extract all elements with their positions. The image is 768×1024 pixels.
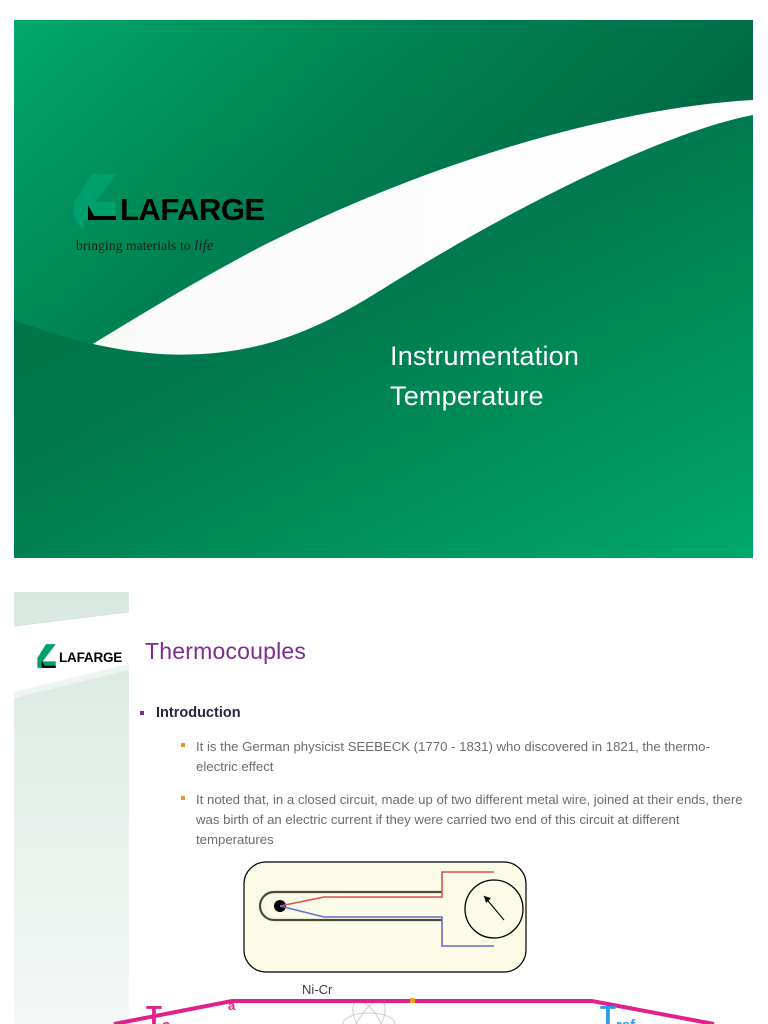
lafarge-logo: LAFARGE bringing materials to life [74, 172, 304, 282]
title-slide: LAFARGE bringing materials to life Instr… [14, 20, 753, 558]
slide-body: Introduction It is the German physicist … [138, 705, 748, 863]
thermocouple-circuit-svg [242, 860, 542, 980]
bullet-square-icon [140, 711, 144, 715]
lafarge-wordmark-small: LAFARGE [59, 650, 122, 665]
bullet-level2-text: It noted that, in a closed circuit, made… [196, 792, 743, 847]
label-a: a [228, 998, 235, 1013]
slide-title-line1: Instrumentation [390, 336, 579, 376]
bullet-square-icon [181, 796, 185, 800]
bullet-level2-text: It is the German physicist SEEBECK (1770… [196, 739, 710, 774]
slide-sidebar: LAFARGE [14, 592, 129, 1024]
lafarge-logo-mark-small-icon [33, 643, 59, 669]
lafarge-wordmark: LAFARGE [120, 192, 265, 228]
bullet-level1-introduction: Introduction [138, 705, 748, 721]
content-slide: LAFARGE Thermocouples Introduction It is… [14, 592, 753, 1024]
seebeck-loop-svg [14, 990, 753, 1024]
slide-page: LAFARGE bringing materials to life Instr… [0, 0, 768, 1024]
bullet-square-icon [181, 743, 185, 747]
lafarge-tagline: bringing materials to life [76, 238, 214, 255]
label-t-ref: Tref [600, 1000, 635, 1024]
bullet-level2-closed-circuit: It noted that, in a closed circuit, made… [180, 790, 748, 850]
slide-title: Instrumentation Temperature [390, 336, 579, 416]
slide-title-line2: Temperature [390, 376, 579, 416]
thermocouple-circuit-diagram [242, 860, 542, 980]
bullet-level2-seebeck: It is the German physicist SEEBECK (1770… [180, 737, 748, 777]
bullet-level1-text: Introduction [156, 705, 241, 721]
lafarge-logo-small: LAFARGE [33, 643, 125, 673]
page-title: Thermocouples [145, 638, 306, 665]
title-slide-background [14, 20, 753, 558]
seebeck-loop-diagram [14, 990, 753, 1024]
label-t-hot: Tc [146, 1000, 170, 1024]
lafarge-logo-mark-icon [74, 172, 118, 234]
